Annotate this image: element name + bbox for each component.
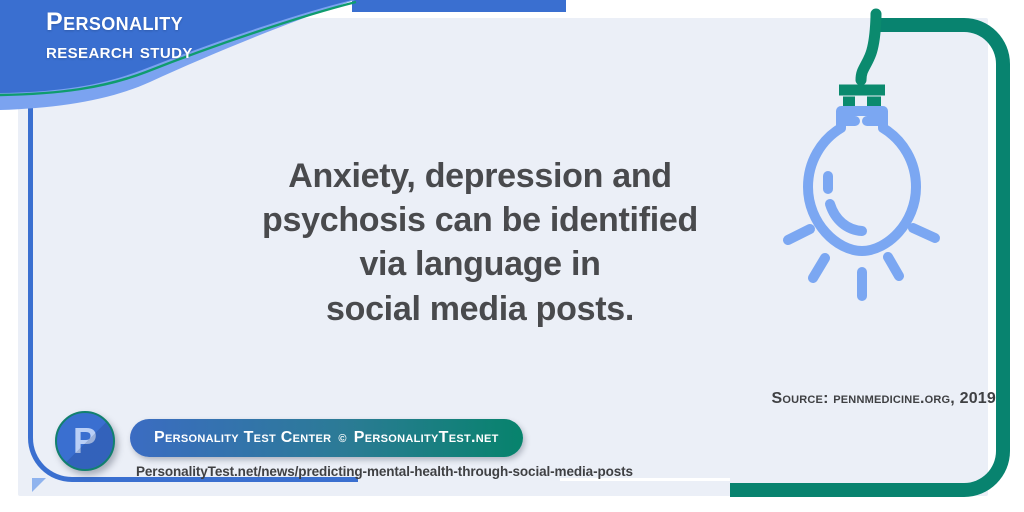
source-prefix: Source: pennmedicine.org, <box>771 390 954 407</box>
lightbulb-icon <box>775 8 1015 318</box>
headline-text: Anxiety, depression and psychosis can be… <box>180 154 780 331</box>
headline-line-1: Anxiety, depression and <box>180 154 780 198</box>
banner-title: Personality research study <box>46 8 346 63</box>
bulb-ray-left <box>788 229 810 240</box>
headline-line-3: via language in <box>180 242 780 286</box>
headline-line-4: social media posts. <box>180 287 780 331</box>
source-attribution: Source: pennmedicine.org, 2019 <box>771 390 996 408</box>
banner-title-line2: research study <box>46 38 346 64</box>
brand-badge[interactable]: Personality Test Center © PersonalityTes… <box>130 419 523 457</box>
brand-name: Personality Test Center <box>154 429 331 447</box>
bulb-ray-lower-right <box>888 257 899 276</box>
avatar: P <box>55 411 115 471</box>
brand-site: PersonalityTest.net <box>354 429 499 447</box>
source-year: 2019 <box>960 390 996 407</box>
headline-line-2: psychosis can be identified <box>180 198 780 242</box>
bulb-highlight-arc <box>830 204 862 231</box>
banner-title-line1: Personality <box>46 8 346 38</box>
corner-arrow-icon <box>32 478 46 492</box>
source-url[interactable]: PersonalityTest.net/news/predicting-ment… <box>136 464 633 479</box>
infographic-canvas: Personality research study Anxiety, depr… <box>0 0 1024 512</box>
teal-frame-bottom-inner-gap <box>560 481 730 496</box>
bulb-cord <box>861 14 876 80</box>
logo-shading <box>57 413 113 469</box>
bulb-ray-right <box>913 228 935 238</box>
header-banner: Personality research study <box>0 0 400 120</box>
copyright-icon: © <box>331 433 353 445</box>
bulb-ray-lower-left <box>813 258 825 278</box>
